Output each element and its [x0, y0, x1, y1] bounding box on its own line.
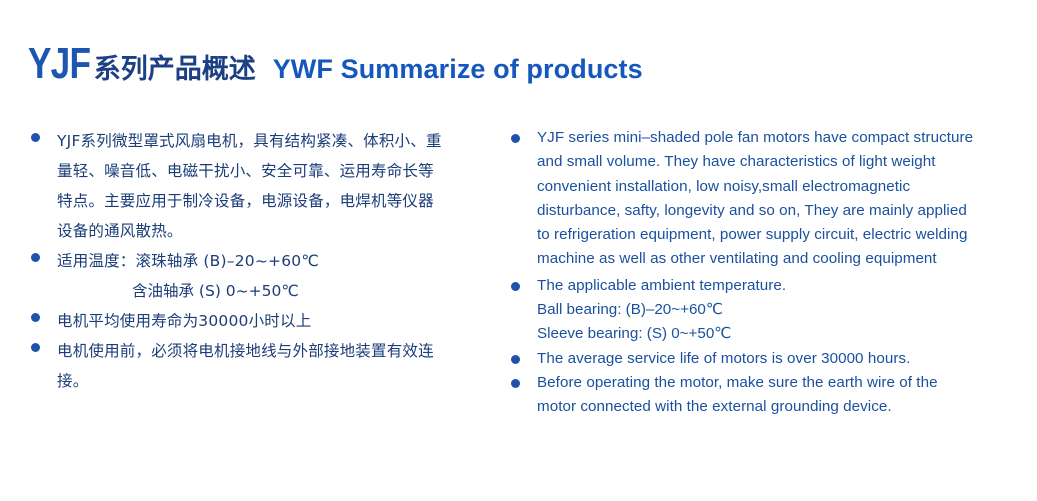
list-item: 电机平均使用寿命为30000小时以上 [28, 306, 490, 336]
list-item: 适用温度：滚珠轴承 (B)–20~+60℃ [28, 246, 490, 276]
list-item-line: 设备的通风散热。 [57, 216, 490, 246]
right-column-english: YJF series mini–shaded pole fan motors h… [508, 126, 1028, 420]
list-item-line: and small volume. They have characterist… [537, 150, 1028, 174]
bullet-dot-icon [31, 253, 40, 262]
list-item-line: 特点。主要应用于制冷设备，电源设备，电焊机等仪器 [57, 186, 490, 216]
bullet-dot-icon [511, 282, 520, 291]
page-title-chinese: 系列产品概述 [94, 56, 256, 83]
list-item-line: Before operating the motor, make sure th… [537, 371, 1028, 395]
bullet-dot-icon [511, 134, 520, 143]
list-item-line: 适用温度：滚珠轴承 (B)–20~+60℃ [57, 246, 490, 276]
list-item-line: 量轻、噪音低、电磁干扰小、安全可靠、运用寿命长等 [57, 156, 490, 186]
list-item-line: YJF series mini–shaded pole fan motors h… [537, 126, 1028, 150]
list-item-subline: Sleeve bearing: (S) 0~+50℃ [508, 322, 1028, 346]
product-summary-page: YJF 系列产品概述 YWF Summarize of products YJF… [0, 0, 1037, 501]
page-title-english: YWF Summarize of products [273, 56, 643, 83]
list-item-subline: Ball bearing: (B)–20~+60℃ [508, 298, 1028, 322]
list-item-line: to refrigeration equipment, power supply… [537, 223, 1028, 247]
list-item: The average service life of motors is ov… [508, 347, 1028, 371]
list-item: The applicable ambient temperature. [508, 274, 1028, 298]
left-column-chinese: YJF系列微型罩式风扇电机，具有结构紧凑、体积小、重 量轻、噪音低、电磁干扰小、… [28, 126, 490, 396]
bullet-dot-icon [511, 355, 520, 364]
list-item-line: 接。 [57, 366, 490, 396]
list-item-subline: 含油轴承 (S) 0~+50℃ [28, 276, 490, 306]
bullet-dot-icon [511, 379, 520, 388]
list-item-line: 电机使用前，必须将电机接地线与外部接地装置有效连 [57, 336, 490, 366]
bullet-dot-icon [31, 133, 40, 142]
list-item-line: machine as well as other ventilating and… [537, 247, 1028, 271]
list-item: 电机使用前，必须将电机接地线与外部接地装置有效连 接。 [28, 336, 490, 396]
list-item: YJF系列微型罩式风扇电机，具有结构紧凑、体积小、重 量轻、噪音低、电磁干扰小、… [28, 126, 490, 246]
list-item-line: 电机平均使用寿命为30000小时以上 [57, 306, 490, 336]
page-title: YJF 系列产品概述 YWF Summarize of products [28, 42, 643, 86]
brand-logo-text: YJF [28, 42, 90, 86]
bullet-dot-icon [31, 313, 40, 322]
list-item-line: convenient installation, low noisy,small… [537, 175, 1028, 199]
bullet-dot-icon [31, 343, 40, 352]
list-item: YJF series mini–shaded pole fan motors h… [508, 126, 1028, 272]
list-item: Before operating the motor, make sure th… [508, 371, 1028, 420]
list-item-line: disturbance, safty, longevity and so on,… [537, 199, 1028, 223]
list-item-line: The applicable ambient temperature. [537, 274, 1028, 298]
list-item-line: The average service life of motors is ov… [537, 347, 1028, 371]
list-item-line: YJF系列微型罩式风扇电机，具有结构紧凑、体积小、重 [57, 126, 490, 156]
list-item-line: motor connected with the external ground… [537, 395, 1028, 419]
